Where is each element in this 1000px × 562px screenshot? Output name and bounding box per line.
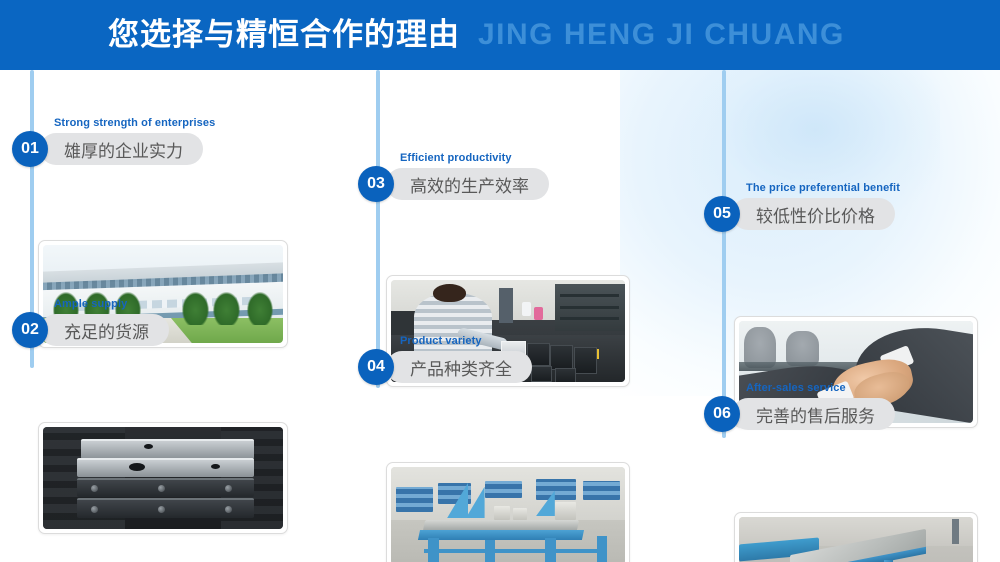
feature-number-badge: 02: [12, 312, 48, 348]
feature-chinese-label: 产品种类齐全: [386, 351, 532, 383]
promo-page: 您选择与精恒合作的理由 JING HENG JI CHUANG Strong s…: [0, 0, 1000, 562]
feature-number-badge: 06: [704, 396, 740, 432]
feature-photo-04[interactable]: [386, 462, 630, 562]
connector-line-column-three: [722, 70, 726, 438]
connector-line-column-two: [376, 70, 380, 388]
feature-number-badge: 01: [12, 131, 48, 167]
feature-photo-06[interactable]: [734, 512, 978, 562]
feature-english-label: Strong strength of enterprises: [54, 117, 215, 129]
feature-number-badge: 04: [358, 349, 394, 385]
page-header: 您选择与精恒合作的理由 JING HENG JI CHUANG: [0, 0, 1000, 70]
page-subtitle: JING HENG JI CHUANG: [478, 0, 845, 70]
feature-chinese-label: 完善的售后服务: [732, 398, 895, 430]
feature-english-label: The price preferential benefit: [746, 182, 900, 194]
feature-english-label: Product variety: [400, 335, 482, 347]
feature-english-label: Ample supply: [54, 298, 127, 310]
feature-chinese-label: 较低性价比价格: [732, 198, 895, 230]
feature-english-label: After-sales service: [746, 382, 846, 394]
feature-chinese-label: 充足的货源: [40, 314, 169, 346]
feature-chinese-label: 高效的生产效率: [386, 168, 549, 200]
feature-number-badge: 05: [704, 196, 740, 232]
feature-english-label: Efficient productivity: [400, 152, 512, 164]
feature-number-badge: 03: [358, 166, 394, 202]
feature-photo-02[interactable]: [38, 422, 288, 534]
page-title: 您选择与精恒合作的理由: [108, 0, 460, 70]
feature-chinese-label: 雄厚的企业实力: [40, 133, 203, 165]
